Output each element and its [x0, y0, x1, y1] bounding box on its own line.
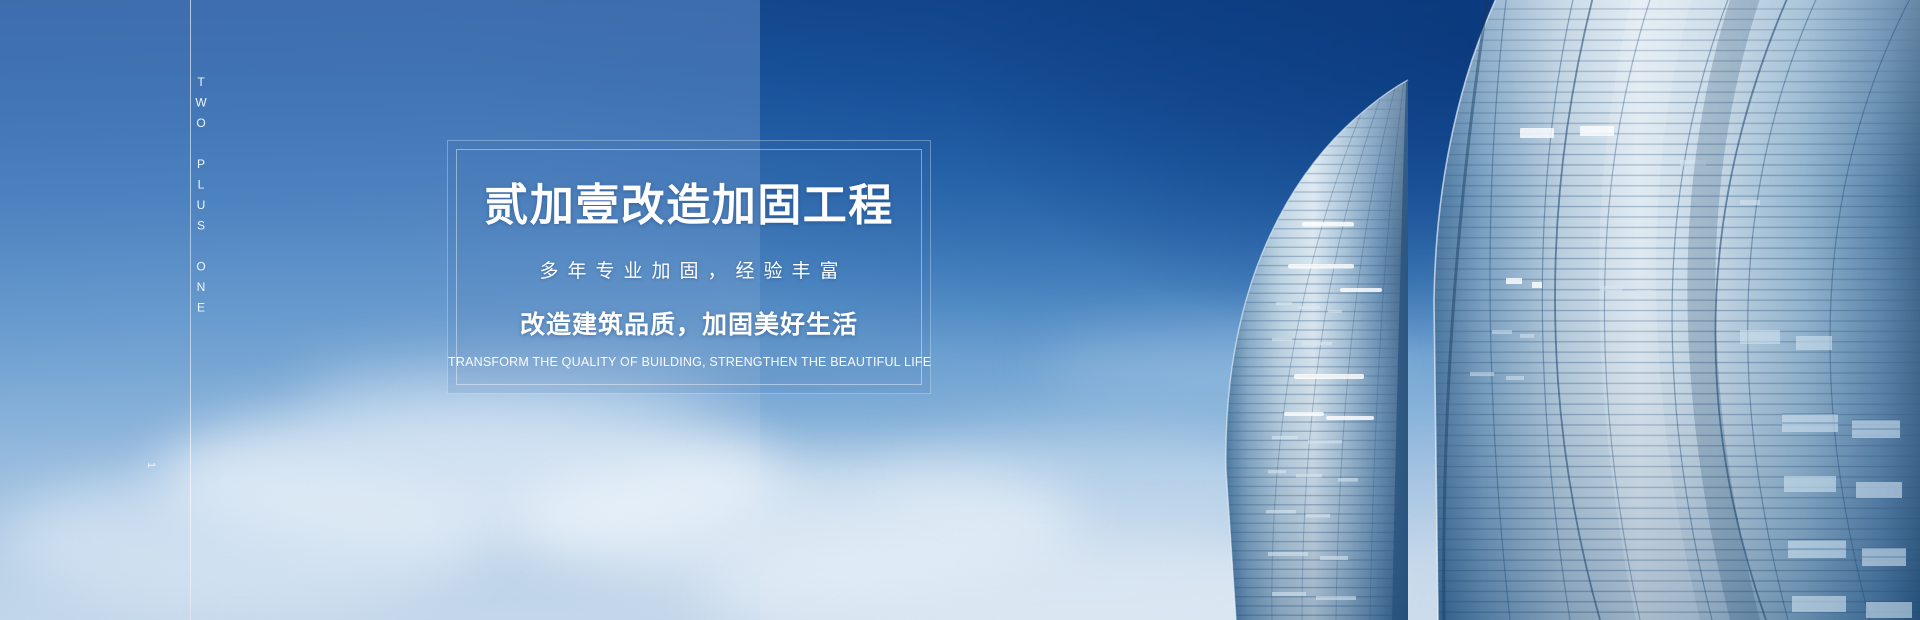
headline-panel: 贰加壹改造加固工程 多年专业加固，经验丰富 改造建筑品质，加固美好生活 TRAN…	[447, 140, 931, 394]
headline-subtitle: 多年专业加固，经验丰富	[448, 256, 930, 283]
headline-english-caption: TRANSFORM THE QUALITY OF BUILDING, STREN…	[448, 355, 930, 369]
headline-title: 贰加壹改造加固工程	[448, 181, 930, 232]
headline-tagline: 改造建筑品质，加固美好生活	[448, 305, 930, 341]
hero-banner: TWO PLUS ONE 1 贰加壹改造加固工程 多年专业加固，经验丰富 改造建…	[0, 0, 1920, 620]
vertical-brand-text: TWO PLUS ONE	[186, 75, 208, 321]
slide-number: 1	[145, 462, 157, 470]
skyscraper-illustration	[1040, 0, 1920, 620]
panel-content: 贰加壹改造加固工程 多年专业加固，经验丰富 改造建筑品质，加固美好生活 TRAN…	[448, 181, 930, 369]
